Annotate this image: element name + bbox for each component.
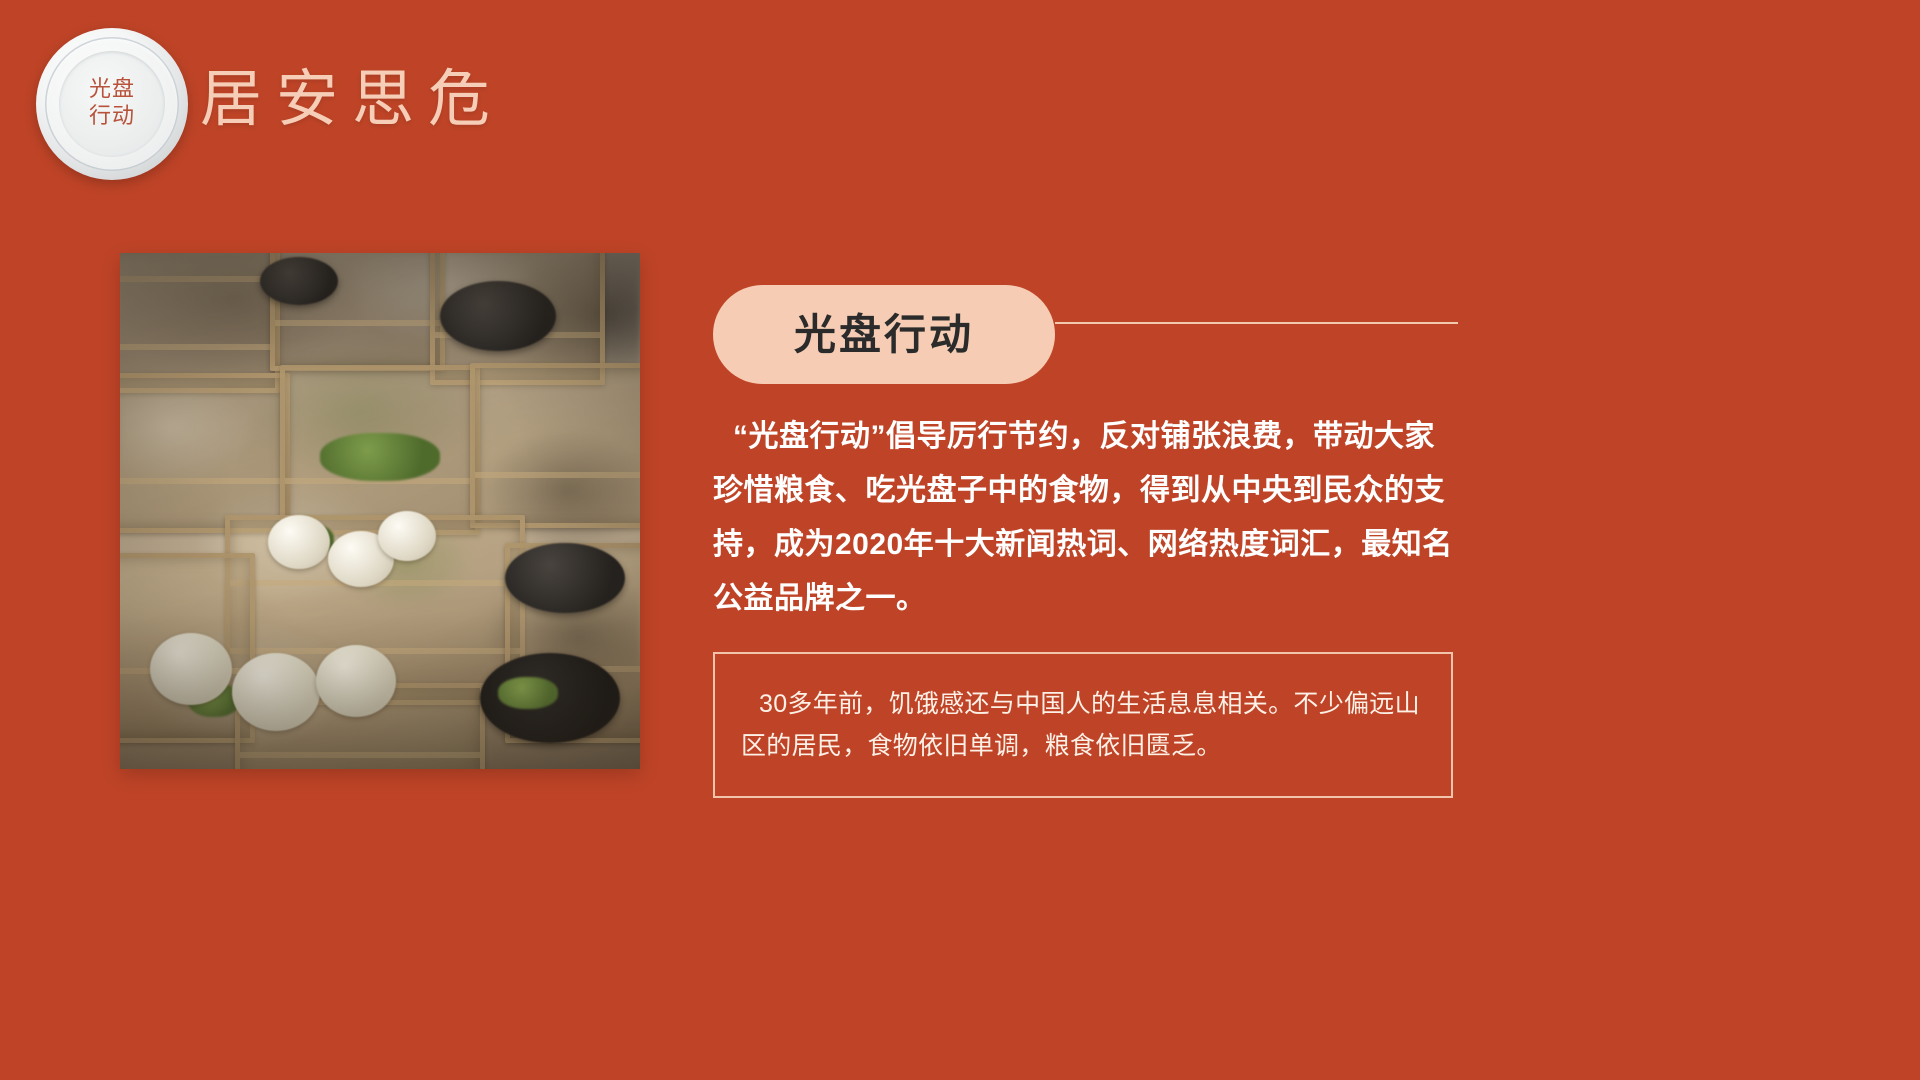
photo-vignette [120,253,640,769]
plate-logo: 光盘 行动 [36,28,188,180]
quote-box: 30多年前，饥饿感还与中国人的生活息息相关。不少偏远山区的居民，食物依旧单调，粮… [713,652,1453,798]
section-divider-rule [1055,322,1458,324]
plate-logo-line2: 行动 [89,104,135,131]
section-badge-label: 光盘行动 [794,314,974,356]
food-photo [120,253,640,769]
section-header: 光盘行动 [713,285,1458,390]
quote-text: 30多年前，饥饿感还与中国人的生活息息相关。不少偏远山区的居民，食物依旧单调，粮… [715,683,1451,767]
plate-logo-line1: 光盘 [89,77,135,104]
body-paragraph: “光盘行动”倡导厉行节约，反对铺张浪费，带动大家珍惜粮食、吃光盘子中的食物，得到… [713,410,1458,626]
page-title: 居安思危 [200,48,504,138]
section-badge: 光盘行动 [713,285,1055,384]
content-column: 光盘行动 “光盘行动”倡导厉行节约，反对铺张浪费，带动大家珍惜粮食、吃光盘子中的… [713,285,1458,798]
plate-logo-text: 光盘 行动 [89,77,135,131]
